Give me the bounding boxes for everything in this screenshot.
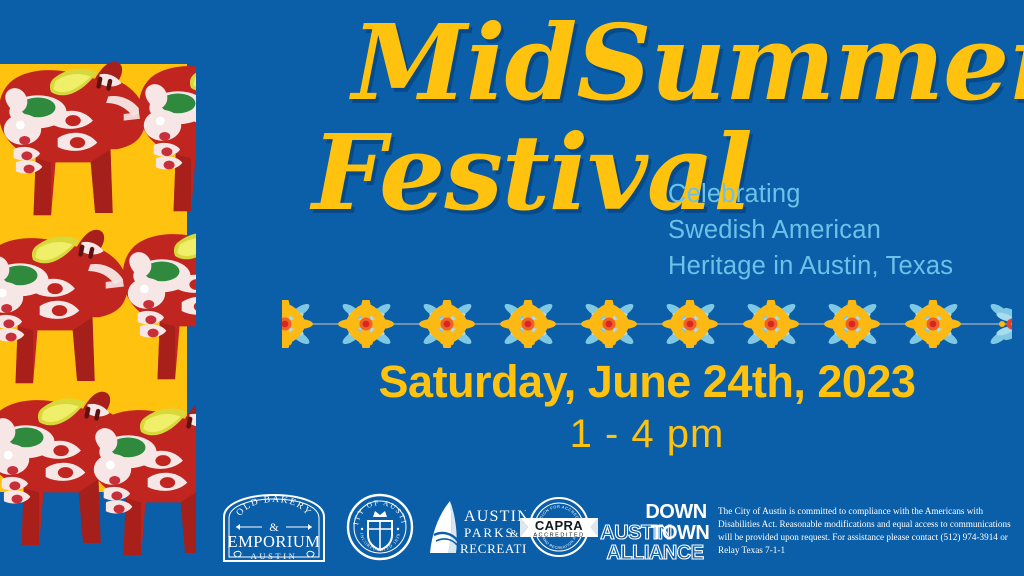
logo-apr-line2: PARKS [464,525,515,540]
logo-city-of-austin-ring-text: CITY OF AUSTIN [342,487,409,526]
event-time: 1 - 4 pm [282,409,1012,459]
logo-old-bakery-emporium: OLD BAKERY & EMPORIUM AUSTIN [214,487,334,567]
logo-capra-line1: CAPRA [535,518,583,533]
dala-horse [96,212,196,388]
logo-downtown-austin-alliance: DOWN AUSTIN TOWN ALLIANCE [596,487,714,567]
svg-text:CITY OF AUSTIN: CITY OF AUSTIN [342,487,409,526]
page-title-line1: MidSummer [352,14,1024,112]
dala-horse-artwork-panel [0,0,196,576]
midsummer-festival-poster: MidSummer Festival Celebrating Swedish A… [0,0,1024,576]
event-date: Saturday, June 24th, 2023 [282,358,1012,405]
logo-capra-line2: ACCREDITED [533,533,584,539]
floral-divider [282,300,1012,348]
logo-austin-parks-recreation: AUSTIN PARKS & RECREATION [422,487,526,567]
logo-daa-alliance: ALLIANCE [606,542,703,564]
subtitle-line-3: Heritage in Austin, Texas [668,248,1018,284]
event-datetime-block: Saturday, June 24th, 2023 1 - 4 pm [282,358,1012,459]
logo-apr-line1: AUSTIN [464,508,526,525]
logo-daa-town: TOWN [651,522,710,544]
title-block: MidSummer Festival Celebrating Swedish A… [300,14,1020,304]
logo-old-bakery-line4: AUSTIN [251,551,298,561]
logo-capra-accredited-seal: COMMISSION FOR ACCREDITATION OF PARK AND… [518,487,600,567]
dala-horse [62,388,196,564]
subtitle: Celebrating Swedish American Heritage in… [668,176,1018,285]
dala-horse [112,44,196,220]
subtitle-line-2: Swedish American [668,212,1018,248]
logo-old-bakery-line3: EMPORIUM [228,532,321,551]
logo-daa-down: DOWN [645,501,706,523]
logo-apr-line3: RECREATION [460,541,526,556]
ada-compliance-notice: The City of Austin is committed to compl… [718,505,1018,557]
logo-city-of-austin-seal: CITY OF AUSTIN INCORPORATED 1839 [342,487,418,567]
subtitle-line-1: Celebrating [668,176,1018,212]
